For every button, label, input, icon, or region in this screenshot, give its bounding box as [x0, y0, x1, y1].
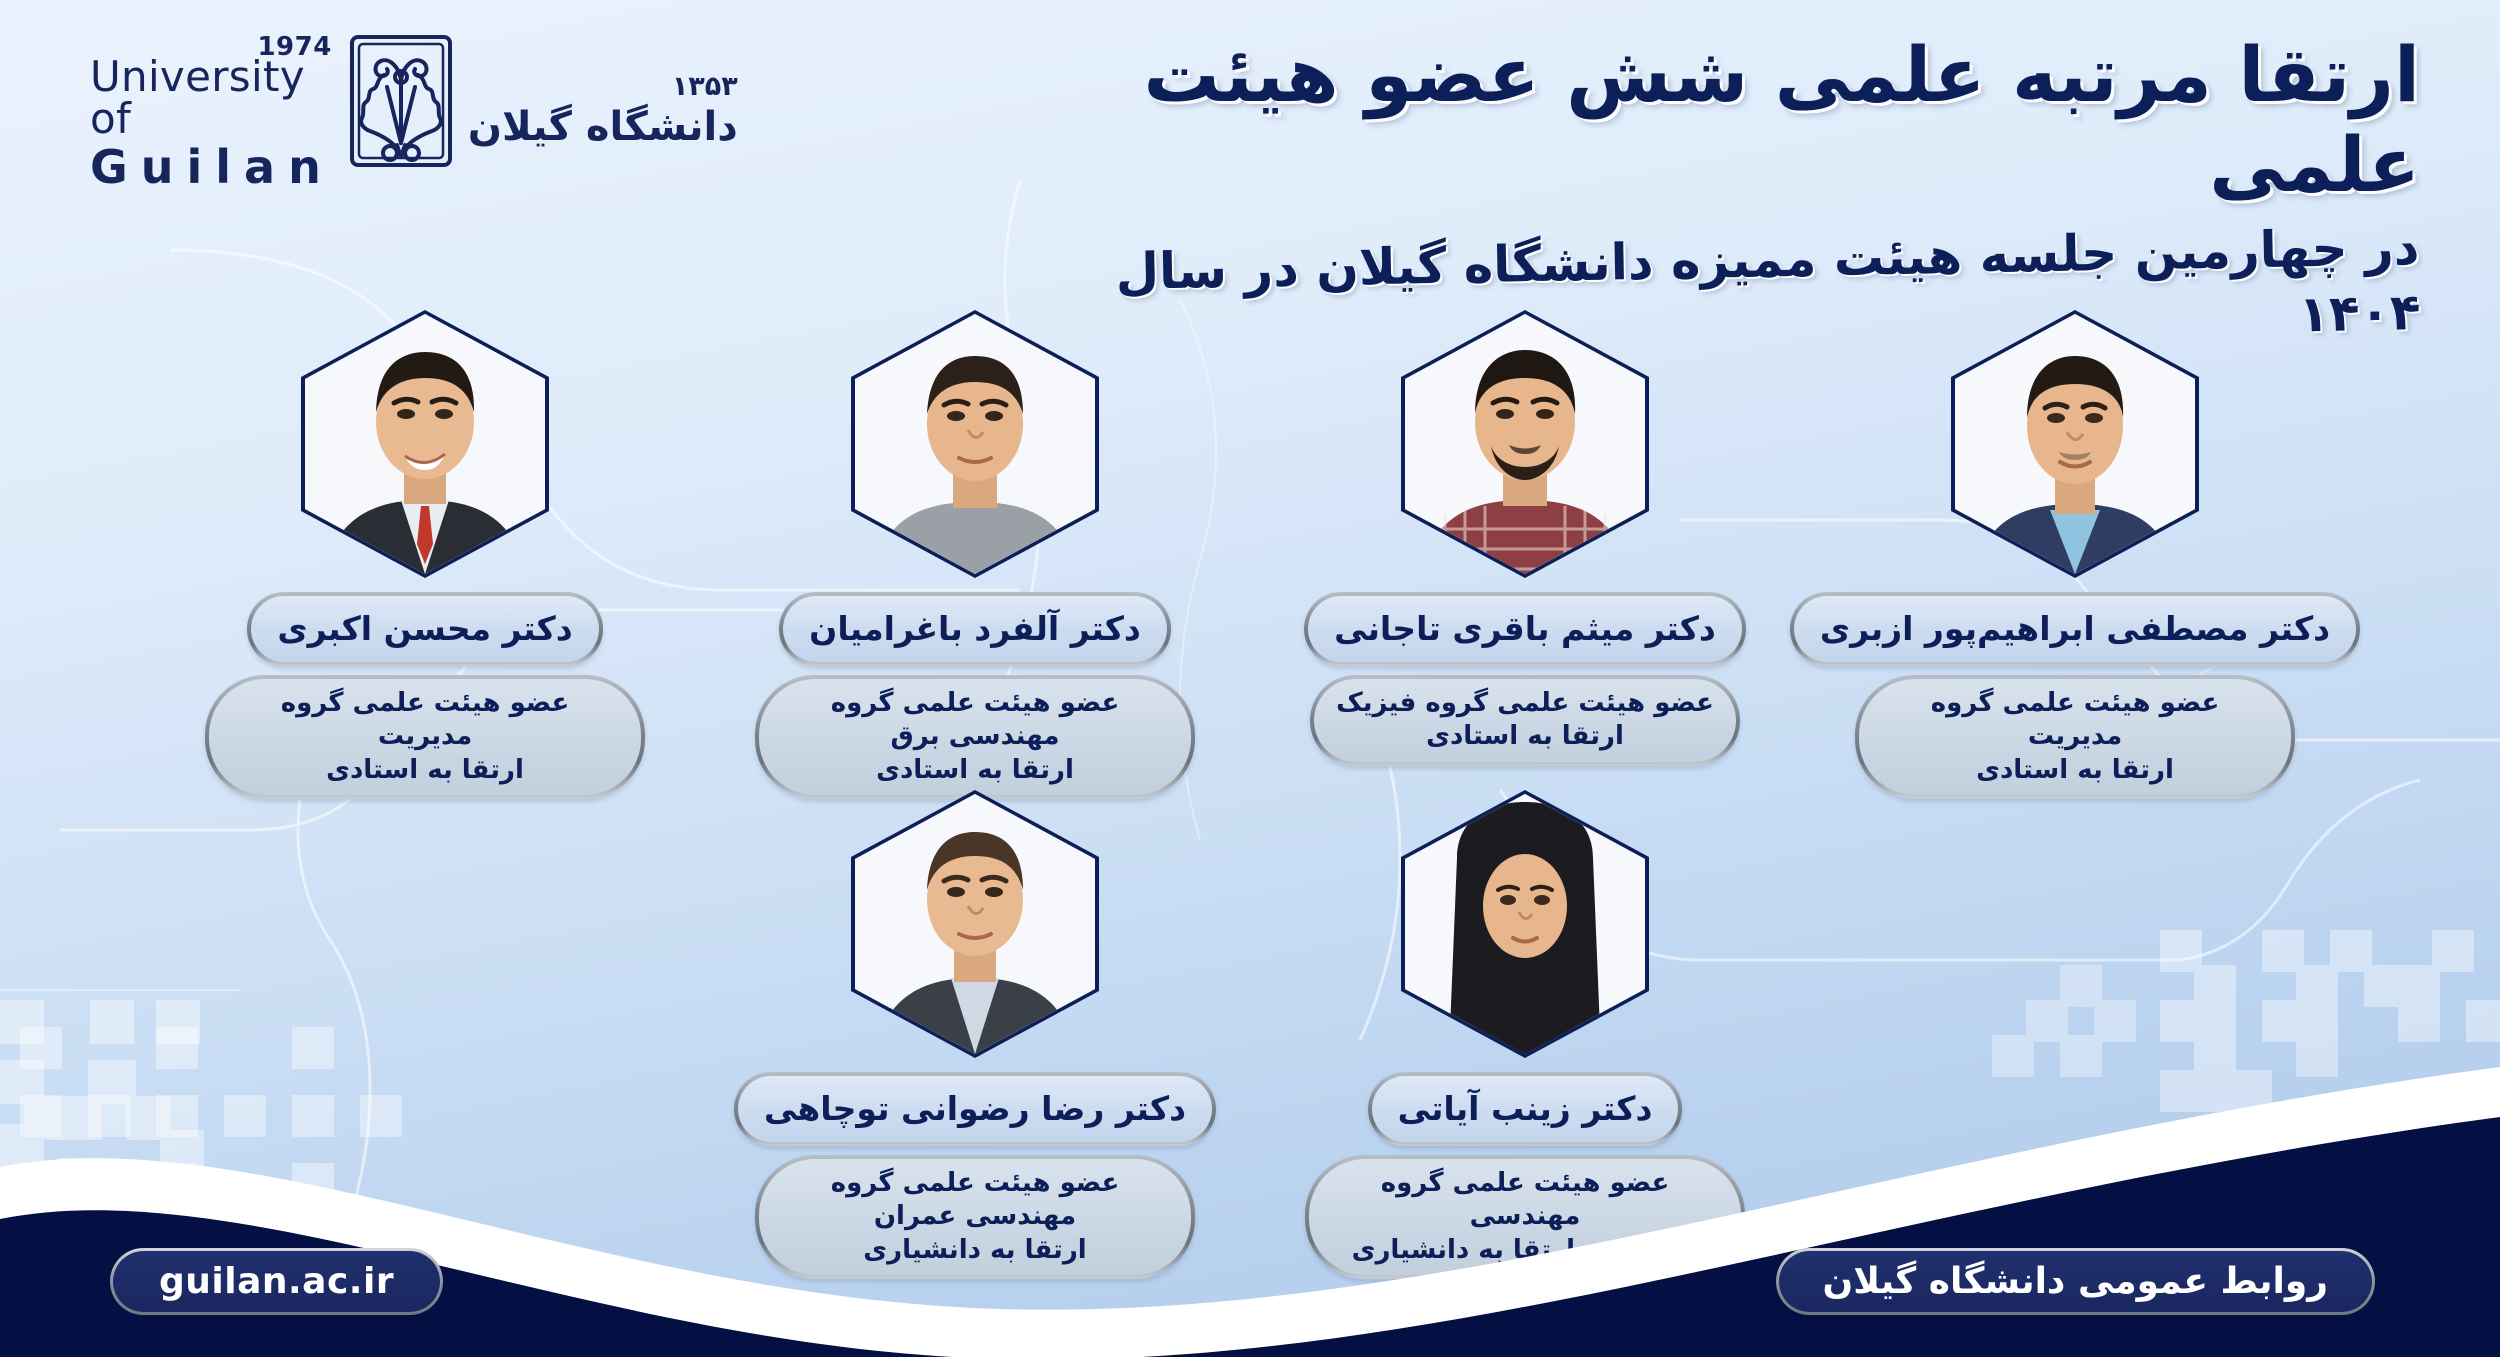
- person-role: عضو هیئت علمی گروه مهندسی عمران ارتقا به…: [755, 1155, 1195, 1279]
- person-role-line1: عضو هیئت علمی گروه فیزیک: [1336, 687, 1714, 720]
- portrait-meysam-bagheri-tajani: [1405, 314, 1645, 574]
- person-name: دکتر رضا رضوانی توچاهی: [734, 1072, 1216, 1146]
- person-role: عضو هیئت علمی گروه مدیریت ارتقا به استاد…: [205, 675, 645, 799]
- photo-frame: [1951, 310, 2199, 578]
- portrait-mostafa-ebrahimpour-azbari: [1955, 314, 2195, 574]
- public-relations-label: روابط عمومی دانشگاه گیلان: [1776, 1248, 2375, 1315]
- person-role-line1: عضو هیئت علمی گروه مدیریت: [231, 687, 619, 754]
- person-role-line2: ارتقا به استادی: [781, 754, 1169, 787]
- university-logo: 1974 University of Guilan: [90, 28, 560, 178]
- page-title: ارتقا مرتبه علمی شش عضو هیئت علمی: [1000, 30, 2420, 209]
- hex-photo: [1405, 794, 1645, 1054]
- person-role-line1: عضو هیئت علمی گروه مهندسی: [1331, 1167, 1719, 1234]
- website-url-button[interactable]: guilan.ac.ir: [110, 1248, 443, 1315]
- person-role-line1: عضو هیئت علمی گروه مهندسی عمران: [781, 1167, 1169, 1234]
- portrait-alfred-baghramian: [855, 314, 1095, 574]
- hex-photo: [1955, 314, 2195, 574]
- person-role-line2: ارتقا به استادی: [231, 754, 619, 787]
- people-row-bottom: دکتر زینب آیاتی عضو هیئت علمی گروه مهندس…: [0, 790, 2500, 1279]
- person-role-line2: ارتقا به استادی: [1336, 720, 1714, 753]
- person-name: دکتر محسن اکبری: [247, 592, 602, 666]
- hex-photo: [305, 314, 545, 574]
- portrait-zeinab-ayati: [1405, 794, 1645, 1054]
- person-card: دکتر آلفرد باغرامیان عضو هیئت علمی گروه …: [755, 310, 1195, 799]
- person-role: عضو هیئت علمی گروه فیزیک ارتقا به استادی: [1310, 675, 1740, 766]
- hex-photo: [1405, 314, 1645, 574]
- photo-frame: [851, 790, 1099, 1058]
- person-card: دکتر رضا رضوانی توچاهی عضو هیئت علمی گرو…: [755, 790, 1195, 1279]
- person-card: دکتر میثم باقری تاجانی عضو هیئت علمی گرو…: [1305, 310, 1745, 799]
- hex-photo: [855, 314, 1095, 574]
- photo-frame: [301, 310, 549, 578]
- people-row-top: دکتر مصطفی ابراهیم‌پور ازبری عضو هیئت عل…: [0, 310, 2500, 799]
- person-card: دکتر زینب آیاتی عضو هیئت علمی گروه مهندس…: [1305, 790, 1745, 1279]
- person-role: عضو هیئت علمی گروه مهندسی کامپیوتر، ارتق…: [1305, 1155, 1745, 1279]
- person-card: دکتر محسن اکبری عضو هیئت علمی گروه مدیری…: [205, 310, 645, 799]
- photo-frame: [1401, 790, 1649, 1058]
- guilan-emblem-icon: [346, 31, 456, 175]
- logo-english-text: 1974 University of Guilan: [90, 16, 334, 190]
- person-role-line2: ارتقا به دانشیاری: [781, 1234, 1169, 1267]
- person-role-line1: عضو هیئت علمی گروه مهندسی برق: [781, 687, 1169, 754]
- hex-photo: [855, 794, 1095, 1054]
- person-name: دکتر مصطفی ابراهیم‌پور ازبری: [1790, 592, 2360, 666]
- person-name: دکتر میثم باقری تاجانی: [1304, 592, 1746, 666]
- person-name: دکتر آلفرد باغرامیان: [779, 592, 1171, 666]
- person-role-line2: کامپیوتر، ارتقا به دانشیاری: [1331, 1234, 1719, 1267]
- person-role: عضو هیئت علمی گروه مدیریت ارتقا به استاد…: [1855, 675, 2295, 799]
- person-name: دکتر زینب آیاتی: [1368, 1072, 1683, 1146]
- photo-frame: [1401, 310, 1649, 578]
- person-role-line2: ارتقا به استادی: [1881, 754, 2269, 787]
- portrait-reza-rezvani-touchahi: [855, 794, 1095, 1054]
- logo-line2-en: Guilan: [90, 144, 334, 190]
- person-card: دکتر مصطفی ابراهیم‌پور ازبری عضو هیئت عل…: [1855, 310, 2295, 799]
- header-block: ارتقا مرتبه علمی شش عضو هیئت علمی در چها…: [1000, 30, 2420, 345]
- person-role-line1: عضو هیئت علمی گروه مدیریت: [1881, 687, 2269, 754]
- poster-root: 1974 University of Guilan: [0, 0, 2500, 1357]
- logo-persian-text: ۱۳۵۳ دانشگاه گیلان: [468, 57, 738, 150]
- logo-line1-en: University of: [90, 56, 334, 140]
- person-role: عضو هیئت علمی گروه مهندسی برق ارتقا به ا…: [755, 675, 1195, 799]
- logo-name-fa: دانشگاه گیلان: [468, 104, 738, 150]
- photo-frame: [851, 310, 1099, 578]
- portrait-mohsen-akbari: [305, 314, 545, 574]
- logo-year-fa: ۱۳۵۳: [672, 71, 738, 102]
